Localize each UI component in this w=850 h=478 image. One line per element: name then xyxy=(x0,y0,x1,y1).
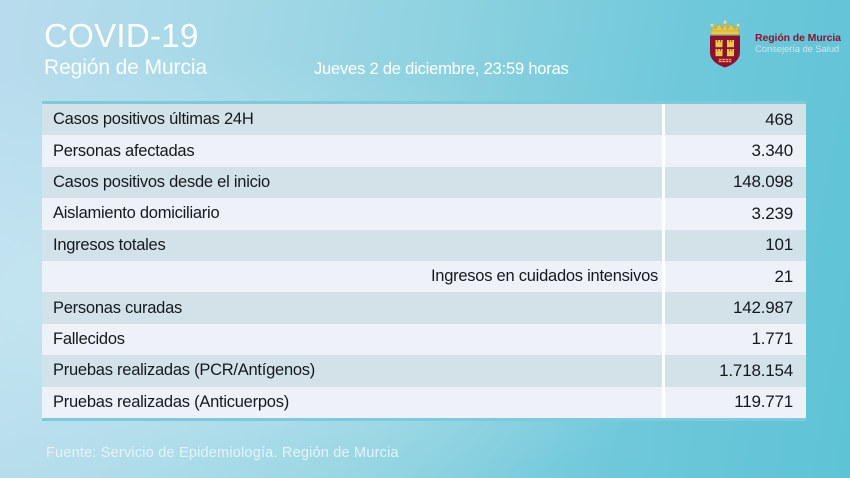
row-value: 3.340 xyxy=(665,141,806,161)
row-label: Personas curadas xyxy=(42,299,662,318)
row-label: Personas afectadas xyxy=(42,142,662,161)
header: COVID-19 Región de Murcia Jueves 2 de di… xyxy=(0,0,850,100)
row-label: Pruebas realizadas (PCR/Antígenos) xyxy=(42,361,662,380)
table-row: Casos positivos desde el inicio 148.098 xyxy=(42,167,806,198)
source-footnote: Fuente: Servicio de Epidemiología. Regió… xyxy=(46,445,399,461)
table-row: Fallecidos 1.771 xyxy=(42,324,806,355)
row-label: Casos positivos desde el inicio xyxy=(42,173,662,192)
row-value: 1.771 xyxy=(665,329,806,349)
logo-text: Región de Murcia Consejería de Salud xyxy=(755,30,841,55)
row-label: Aislamiento domiciliario xyxy=(42,204,662,223)
row-value: 468 xyxy=(665,110,806,130)
row-value: 148.098 xyxy=(665,172,806,192)
murcia-coat-of-arms-icon xyxy=(702,16,748,68)
page-title: COVID-19 xyxy=(44,17,207,54)
row-label: Ingresos en cuidados intensivos xyxy=(42,267,662,286)
table-row-sub: Ingresos en cuidados intensivos 21 xyxy=(42,261,806,292)
row-value: 101 xyxy=(665,235,806,255)
row-value: 3.239 xyxy=(665,204,806,224)
table-row: Pruebas realizadas (PCR/Antígenos) 1.718… xyxy=(42,355,806,386)
row-label: Pruebas realizadas (Anticuerpos) xyxy=(42,393,662,412)
row-label: Fallecidos xyxy=(42,330,662,349)
table-row: Personas afectadas 3.340 xyxy=(42,135,806,166)
logo-region-label: Región de Murcia xyxy=(755,32,841,44)
row-value: 119.771 xyxy=(665,392,806,412)
page-subtitle: Región de Murcia xyxy=(44,55,207,81)
report-date: Jueves 2 de diciembre, 23:59 horas xyxy=(314,60,569,79)
row-label: Ingresos totales xyxy=(42,236,662,255)
covid-statistics-table: Casos positivos últimas 24H 468 Personas… xyxy=(42,101,806,421)
row-value: 1.718.154 xyxy=(665,361,806,381)
title-block: COVID-19 Región de Murcia xyxy=(44,17,207,81)
logo-department-label: Consejería de Salud xyxy=(755,44,841,55)
table-row: Aislamiento domiciliario 3.239 xyxy=(42,198,806,229)
table-row: Ingresos totales 101 xyxy=(42,230,806,261)
row-value: 21 xyxy=(665,267,806,287)
table-row: Pruebas realizadas (Anticuerpos) 119.771 xyxy=(42,387,806,418)
table-row: Casos positivos últimas 24H 468 xyxy=(42,104,806,135)
region-logo: Región de Murcia Consejería de Salud xyxy=(702,16,841,68)
row-value: 142.987 xyxy=(665,298,806,318)
row-label: Casos positivos últimas 24H xyxy=(42,110,662,129)
table-row: Personas curadas 142.987 xyxy=(42,292,806,323)
